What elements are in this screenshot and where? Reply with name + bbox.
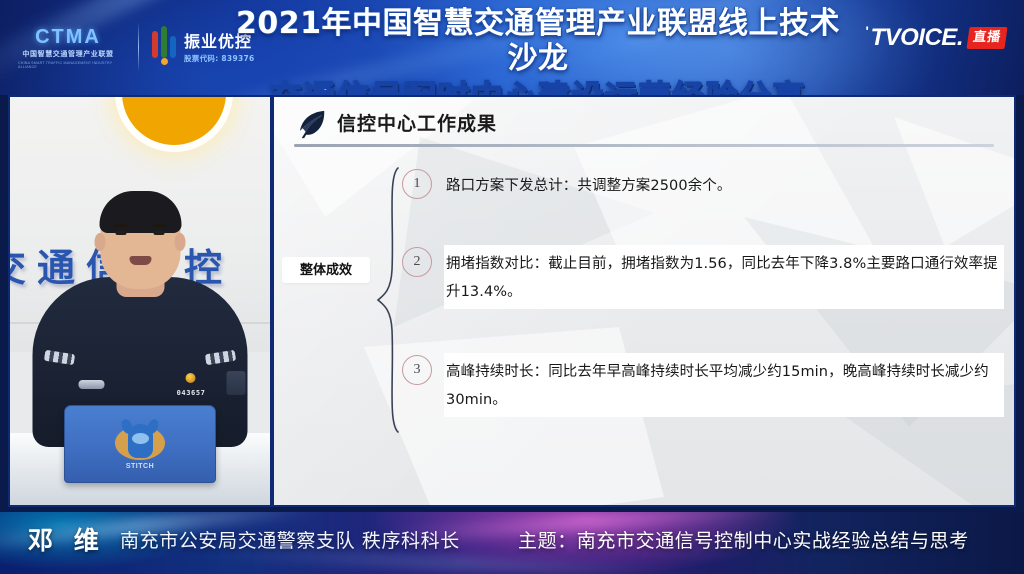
list-item: 2 拥堵指数对比：截止目前，拥堵指数为1.56，同比去年下降3.8%主要路口通行… xyxy=(402,247,1002,307)
speaker-name: 邓 维 xyxy=(28,528,105,553)
list-item-number: 3 xyxy=(402,355,432,385)
ear xyxy=(95,233,106,251)
list-item: 1 路口方案下发总计：共调整方案2500余个。 xyxy=(402,169,1002,200)
broadcaster-wordmark-text: TVOICE. xyxy=(870,24,963,51)
laptop: STITCH xyxy=(64,405,216,483)
event-title-line-1: 2021年中国智慧交通管理产业联盟线上技术沙龙 xyxy=(228,6,848,77)
header-divider xyxy=(138,22,139,72)
badge-number: 043657 xyxy=(177,390,206,397)
curly-brace-icon xyxy=(374,165,400,440)
speaker-video-panel[interactable]: 交通信号控 043657 xyxy=(8,95,272,507)
laptop-sticker-label: STITCH xyxy=(111,463,169,470)
eyebrow xyxy=(114,224,128,227)
livestream-screen: CTMA 中国智慧交通管理产业联盟 CHINA SMART TRAFFIC MA… xyxy=(0,0,1024,574)
eye xyxy=(154,231,165,235)
slide-title-row: 信控中心工作成果 xyxy=(296,109,996,139)
presentation-slide[interactable]: 信控中心工作成果 整体成效 1 路口方案下发总计：共调整方案2500余个。 2 … xyxy=(272,95,1016,507)
event-title-line-2: 交通信号配时中心建设运营经验分享 xyxy=(228,79,848,95)
emblem-icon xyxy=(186,373,196,383)
ctma-logo-chinese: 中国智慧交通管理产业联盟 xyxy=(22,50,113,59)
ctma-logo: CTMA 中国智慧交通管理产业联盟 CHINA SMART TRAFFIC MA… xyxy=(18,22,118,74)
laptop-sticker-icon: STITCH xyxy=(111,420,169,468)
u-bars-logo-icon xyxy=(152,31,178,65)
list-item-text: 路口方案下发总计：共调整方案2500余个。 xyxy=(446,169,732,200)
header-banner: CTMA 中国智慧交通管理产业联盟 CHINA SMART TRAFFIC MA… xyxy=(0,0,1024,95)
event-title-block: 2021年中国智慧交通管理产业联盟线上技术沙龙 交通信号配时中心建设运营经验分享 xyxy=(228,6,848,95)
broadcaster-tick-icon: ' xyxy=(865,24,868,38)
eyebrow xyxy=(153,224,167,227)
mouth xyxy=(129,256,151,265)
list-item-number: 1 xyxy=(402,169,432,199)
lower-third-bar: 邓 维 南充市公安局交通警察支队 秩序科科长 主题：南充市交通信号控制中心实战经… xyxy=(0,512,1024,574)
broadcaster-logo: 'TVOICE. 直播 xyxy=(870,26,1006,50)
hair xyxy=(99,191,181,233)
eye xyxy=(116,231,127,235)
bg-polygon xyxy=(364,327,664,507)
list-item-number: 2 xyxy=(402,247,432,277)
group-label: 整体成效 xyxy=(282,257,370,283)
list-item-text: 拥堵指数对比：截止目前，拥堵指数为1.56，同比去年下降3.8%主要路口通行效率… xyxy=(446,247,1002,307)
feather-icon xyxy=(296,109,328,139)
slide-title: 信控中心工作成果 xyxy=(337,115,497,134)
live-badge: 直播 xyxy=(966,27,1007,49)
broadcaster-wordmark: 'TVOICE. xyxy=(870,26,963,50)
list-item-text: 高峰持续时长：同比去年早高峰持续时长平均减少约15min，晚高峰持续时长减少约3… xyxy=(446,355,1002,415)
arm-patch-icon xyxy=(227,371,246,395)
ctma-logo-english: CHINA SMART TRAFFIC MANAGEMENT INDUSTRY … xyxy=(18,61,118,70)
chest-badge-icon xyxy=(79,380,105,389)
slide-title-underline xyxy=(294,144,994,147)
ear xyxy=(175,233,186,251)
list-item: 3 高峰持续时长：同比去年早高峰持续时长平均减少约15min，晚高峰持续时长减少… xyxy=(402,355,1002,415)
session-topic: 主题：南充市交通信号控制中心实战经验总结与思考 xyxy=(518,532,969,551)
speaker-title: 南充市公安局交通警察支队 秩序科科长 xyxy=(120,532,460,551)
ctma-logo-mark: CTMA xyxy=(35,27,101,47)
